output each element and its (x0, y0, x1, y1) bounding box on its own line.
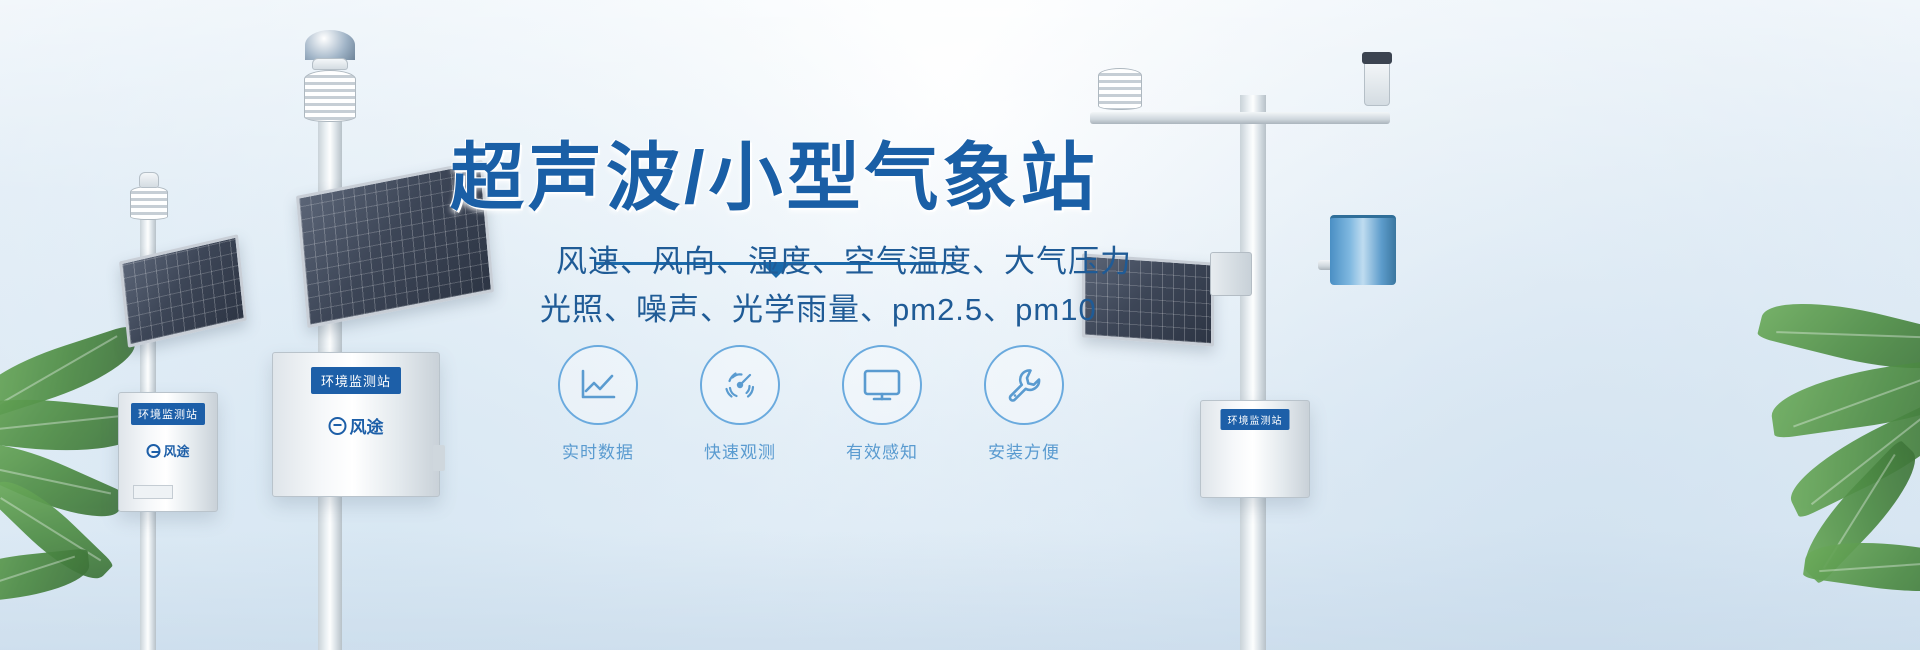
feature-list: 实时数据 (556, 345, 1066, 463)
feature-item-realtime-data[interactable]: 实时数据 (556, 345, 640, 463)
feature-label: 安装方便 (982, 438, 1066, 463)
product-banner: 环境监测站 风途 环境监测站 风途 (0, 0, 1920, 650)
feature-item-easy-install[interactable]: 安装方便 (982, 345, 1066, 463)
radar-scan-icon (719, 364, 761, 406)
feature-icon-circle (842, 345, 922, 425)
feature-item-fast-observation[interactable]: 快速观测 (698, 345, 782, 463)
wrench-icon (1003, 364, 1045, 406)
feature-icon-circle (558, 345, 638, 425)
feature-label: 有效感知 (840, 438, 924, 463)
subtitle-line-1: 风速、风向、湿度、空气温度、大气压力 (0, 236, 1920, 281)
page-title: 超声波/小型气象站 (450, 118, 1130, 225)
subtitle-line-2: 光照、噪声、光学雨量、pm2.5、pm10 (0, 284, 1920, 329)
feature-label: 实时数据 (556, 438, 640, 463)
feature-icon-circle (700, 345, 780, 425)
feature-icon-circle (984, 345, 1064, 425)
feature-item-effective-sensing[interactable]: 有效感知 (840, 345, 924, 463)
feature-label: 快速观测 (698, 438, 782, 463)
line-chart-icon (578, 367, 618, 403)
monitor-icon (861, 367, 903, 403)
